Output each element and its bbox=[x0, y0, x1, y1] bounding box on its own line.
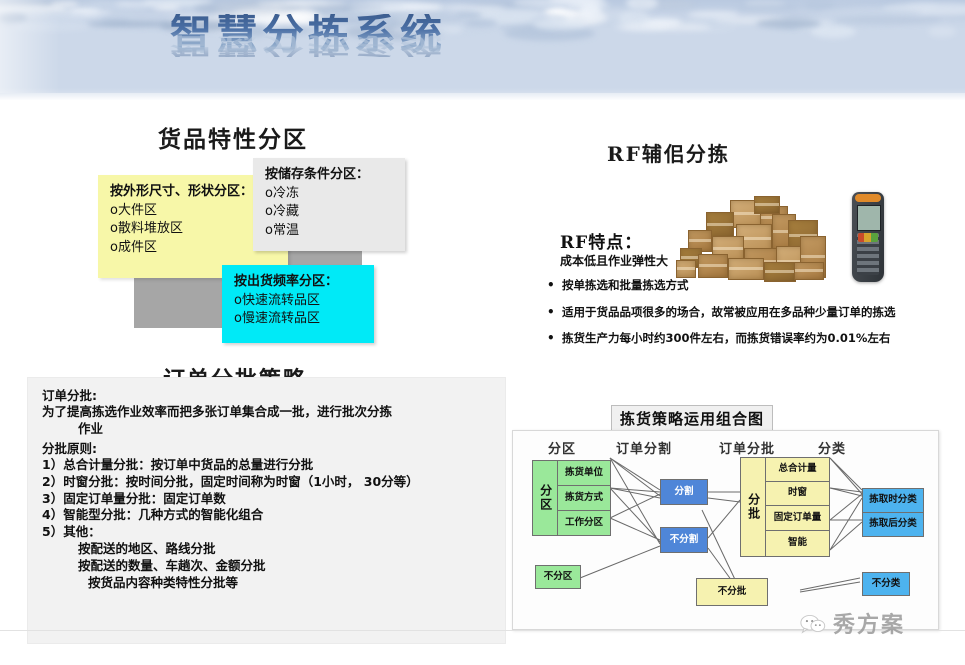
flow-node-zone-label[interactable]: 分区 bbox=[532, 460, 558, 536]
flow-node-zone-item-1[interactable]: 拣货方式 bbox=[557, 485, 611, 511]
banner-left-fade bbox=[0, 0, 60, 100]
flow-node-batch-item-1[interactable]: 时窗 bbox=[765, 481, 830, 506]
flow-col-head-0: 分区 bbox=[548, 438, 576, 457]
rf-bullet-2: 拣货生产力每小时约300件左右，而拣货错误率约为0.01%左右 bbox=[545, 331, 955, 347]
rf-handheld-scanner-icon bbox=[852, 192, 884, 282]
flow-node-sort-item-1[interactable]: 拣取后分类 bbox=[862, 512, 924, 537]
rf-bullet-1: 适用于货品品项很多的场合，故常被应用在多品种少量订单的拣选 bbox=[545, 305, 955, 321]
cardboard-box bbox=[698, 254, 728, 278]
rf-subtitle: 成本低且作业弹性大 bbox=[560, 252, 668, 269]
slide-canvas: 智慧分拣系统 智慧分拣系统 货品特性分区 按外形尺寸、形状分区： o大件区 o散… bbox=[0, 0, 965, 665]
flow-col-head-3: 分类 bbox=[818, 438, 846, 457]
goods-card-storage-title: 按储存条件分区： bbox=[265, 166, 395, 185]
rf-feature-title: RF特点： bbox=[560, 228, 642, 253]
goods-card-frequency-item-0: o快速流转品区 bbox=[234, 292, 364, 310]
page-title-reflection: 智慧分拣系统 bbox=[170, 34, 446, 57]
batch-other-0: 按配送的地区、路线分批 bbox=[42, 541, 499, 558]
goods-card-storage: 按储存条件分区： o冷冻 o冷藏 o常温 bbox=[253, 158, 405, 251]
batch-principle-0: 1）总合计量分批：按订单中货品的总量进行分批 bbox=[42, 457, 499, 474]
cardboard-box bbox=[676, 260, 696, 278]
batch-other-1: 按配送的数量、车趟次、金额分批 bbox=[42, 558, 499, 575]
cardboard-box bbox=[728, 258, 764, 280]
batch-definition-label: 订单分批: bbox=[42, 385, 499, 404]
batch-principle-4: 5）其他： bbox=[42, 524, 499, 541]
wechat-bubble-icon bbox=[800, 613, 826, 634]
goods-card-storage-item-2: o常温 bbox=[265, 222, 395, 240]
scanner-top-bar bbox=[855, 194, 881, 202]
watermark-text: 秀方案 bbox=[833, 607, 905, 639]
batch-definition-text: 为了提高拣选作业效率而把多张订单集合成一批，进行批次分拣 bbox=[42, 404, 499, 421]
flow-node-batch-label[interactable]: 分批 bbox=[740, 457, 766, 557]
flow-node-no-split[interactable]: 不分割 bbox=[660, 527, 708, 553]
flow-node-sort-item-0[interactable]: 拣取时分类 bbox=[862, 488, 924, 513]
goods-card-frequency: 按出货频率分区： o快速流转品区 o慢速流转品区 bbox=[222, 265, 374, 343]
flow-node-batch-item-0[interactable]: 总合计量 bbox=[765, 457, 830, 482]
batch-principle-label: 分批原则: bbox=[42, 438, 499, 457]
rf-bullet-list: 按单拣选和批量拣选方式 适用于货品品项很多的场合，故常被应用在多品种少量订单的拣… bbox=[545, 278, 955, 358]
cardboard-box bbox=[754, 196, 780, 214]
flowchart-title: 拣货策略运用组合图 bbox=[611, 405, 773, 433]
batch-principle-1: 2）时窗分批：按时间分批，固定时间称为时窗（1小时， 30分等） bbox=[42, 474, 499, 491]
flow-node-batch-item-2[interactable]: 固定订单量 bbox=[765, 505, 830, 531]
goods-card-storage-item-1: o冷藏 bbox=[265, 203, 395, 221]
flow-col-head-1: 订单分割 bbox=[616, 438, 672, 457]
rf-bullet-0: 按单拣选和批量拣选方式 bbox=[545, 278, 955, 294]
flow-node-zone-item-0[interactable]: 拣货单位 bbox=[557, 460, 611, 486]
flow-node-no-sort[interactable]: 不分类 bbox=[862, 572, 910, 596]
flow-node-batch-item-3[interactable]: 智能 bbox=[765, 530, 830, 557]
cloud-texture bbox=[0, 0, 965, 34]
goods-card-storage-item-0: o冷冻 bbox=[265, 185, 395, 203]
goods-card-frequency-title: 按出货频率分区： bbox=[234, 273, 364, 292]
flow-node-zone-item-2[interactable]: 工作分区 bbox=[557, 510, 611, 536]
banner-bottom-edge bbox=[0, 93, 965, 100]
scanner-function-keys bbox=[858, 233, 878, 242]
watermark: 秀方案 bbox=[800, 607, 905, 639]
batch-strategy-panel: 订单分批: 为了提高拣选作业效率而把多张订单集合成一批，进行批次分拣 作业 分批… bbox=[28, 378, 505, 643]
flow-node-split[interactable]: 分割 bbox=[660, 479, 708, 505]
batch-definition-text-cont: 作业 bbox=[42, 421, 499, 438]
flow-node-no-zone[interactable]: 不分区 bbox=[535, 565, 581, 589]
cardboard-boxes-illustration bbox=[676, 196, 826, 281]
goods-section-heading: 货品特性分区 bbox=[158, 120, 308, 154]
flow-node-no-batch[interactable]: 不分批 bbox=[696, 578, 768, 606]
scanner-screen bbox=[857, 205, 881, 231]
flow-col-head-2: 订单分批 bbox=[719, 438, 775, 457]
batch-principle-2: 3）固定订单量分批：固定订单数 bbox=[42, 491, 499, 508]
batch-principle-3: 4）智能型分批：几种方式的智能化组合 bbox=[42, 507, 499, 524]
header-banner: 智慧分拣系统 智慧分拣系统 bbox=[0, 0, 965, 100]
rf-section-heading: RF辅佀分拣 bbox=[607, 138, 730, 167]
batch-other-2: 按货品内容种类特性分批等 bbox=[42, 575, 499, 592]
goods-card-frequency-item-1: o慢速流转品区 bbox=[234, 310, 364, 328]
